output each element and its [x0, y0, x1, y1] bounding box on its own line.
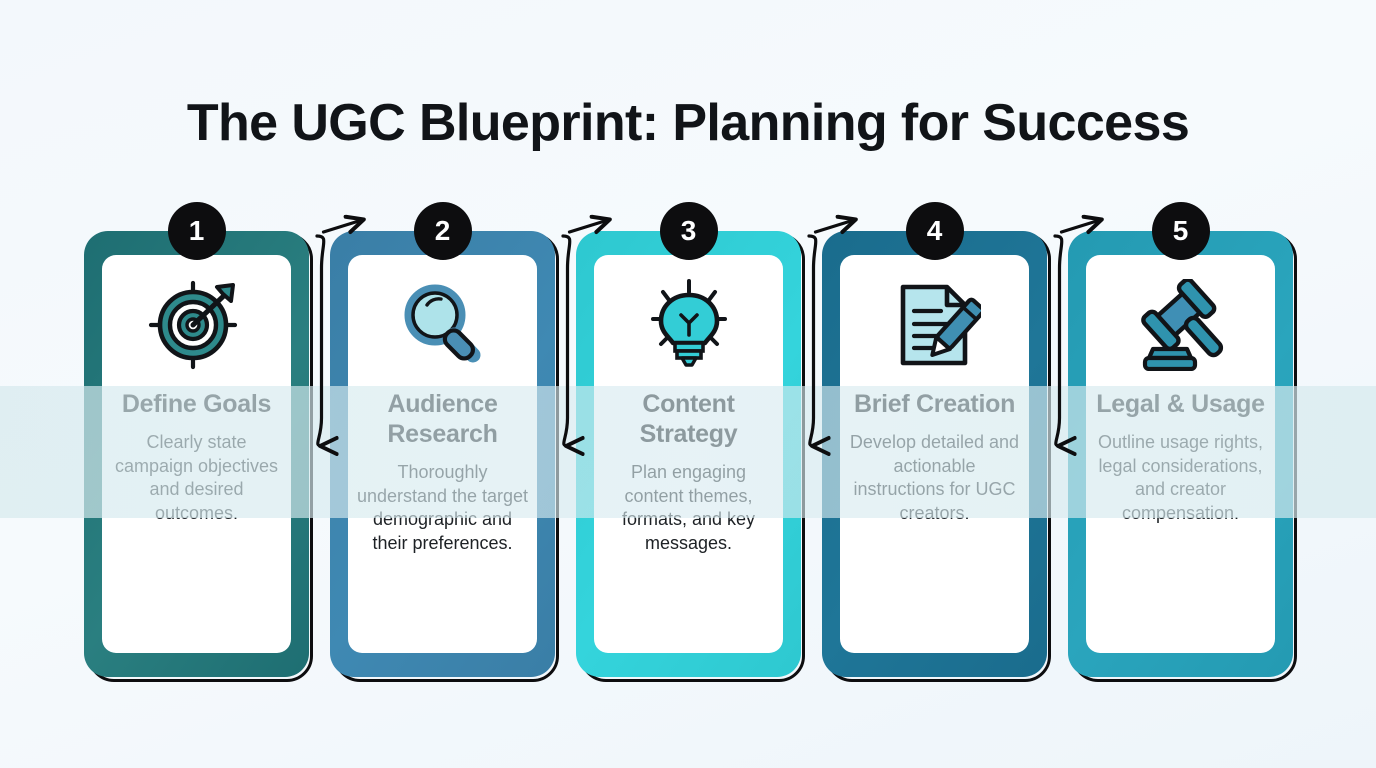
step-number-badge-5: 5: [1152, 202, 1210, 260]
lightbulb-icon: [641, 279, 737, 371]
magnifying-glass-icon: [395, 279, 491, 371]
infographic-canvas: The UGC Blueprint: Planning for Success …: [0, 0, 1376, 768]
step-card-5[interactable]: Legal & UsageOutline usage rights, legal…: [1068, 231, 1293, 677]
card-description: Clearly state campaign objectives and de…: [109, 431, 285, 525]
card-content: Legal & UsageOutline usage rights, legal…: [1086, 255, 1275, 653]
card-heading: Define Goals: [111, 389, 283, 419]
card-icon: [143, 283, 251, 367]
step-card-1[interactable]: Define GoalsClearly state campaign objec…: [84, 231, 309, 677]
card-icon: [1131, 283, 1231, 367]
step-number-badge-4: 4: [906, 202, 964, 260]
card-heading: Content Strategy: [603, 389, 775, 449]
card-heading: Audience Research: [357, 389, 529, 449]
card-icon: [641, 283, 737, 367]
card-description: Develop detailed and actionable instruct…: [847, 431, 1023, 525]
card-icon: [889, 283, 981, 367]
step-card-2[interactable]: Audience ResearchThoroughly understand t…: [330, 231, 555, 677]
steps-row: Define GoalsClearly state campaign objec…: [0, 0, 1376, 768]
target-arrow-icon: [143, 279, 251, 371]
document-pencil-icon: [889, 279, 981, 371]
step-card-3[interactable]: Content StrategyPlan engaging content th…: [576, 231, 801, 677]
step-number-badge-3: 3: [660, 202, 718, 260]
gavel-icon: [1131, 279, 1231, 371]
card-description: Plan engaging content themes, formats, a…: [601, 461, 777, 555]
card-content: Define GoalsClearly state campaign objec…: [102, 255, 291, 653]
card-description: Thoroughly understand the target demogra…: [355, 461, 531, 555]
card-icon: [395, 283, 491, 367]
card-content: Brief CreationDevelop detailed and actio…: [840, 255, 1029, 653]
card-description: Outline usage rights, legal consideratio…: [1093, 431, 1269, 525]
step-number-badge-1: 1: [168, 202, 226, 260]
card-heading: Brief Creation: [849, 389, 1021, 419]
card-content: Content StrategyPlan engaging content th…: [594, 255, 783, 653]
step-number-badge-2: 2: [414, 202, 472, 260]
card-content: Audience ResearchThoroughly understand t…: [348, 255, 537, 653]
card-heading: Legal & Usage: [1095, 389, 1267, 419]
step-card-4[interactable]: Brief CreationDevelop detailed and actio…: [822, 231, 1047, 677]
